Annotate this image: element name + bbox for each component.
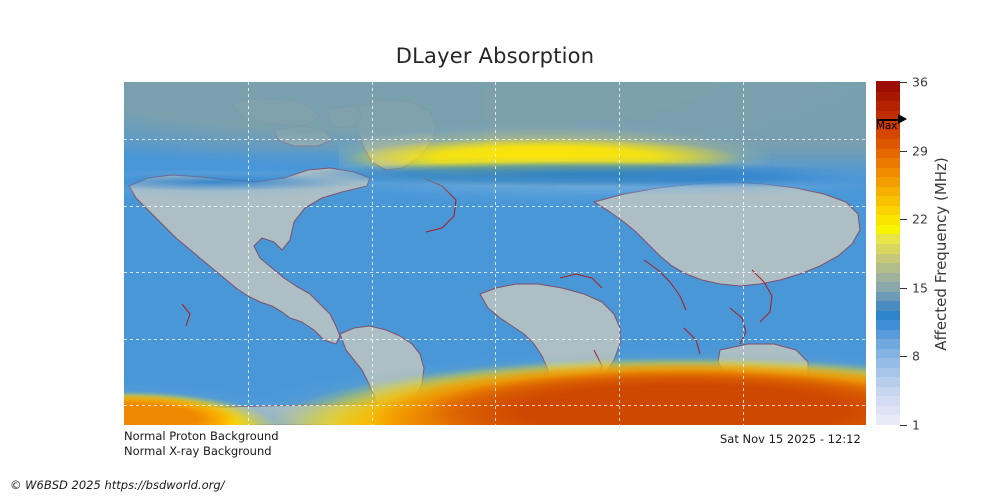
- colorbar-segment: [876, 234, 900, 244]
- credit-line: © W6BSD 2025 https://bsdworld.org/: [10, 478, 225, 492]
- colorbar-segment: [876, 377, 900, 387]
- colorbar-segment: [876, 272, 900, 282]
- max-marker: Max: [876, 112, 910, 130]
- max-arrow-head: [898, 114, 907, 124]
- colorbar-segment: [876, 186, 900, 196]
- colorbar-segment: [876, 358, 900, 368]
- colorbar-tick-label: 8: [912, 349, 920, 364]
- status-notes: Normal Proton Background Normal X-ray Ba…: [124, 429, 279, 459]
- colorbar-tick-mark: [900, 356, 907, 357]
- colorbar-segment: [876, 167, 900, 177]
- colorbar-segment: [876, 177, 900, 187]
- colorbar-segment: [876, 339, 900, 349]
- xray-status: Normal X-ray Background: [124, 444, 279, 459]
- colorbar-segment: [876, 243, 900, 253]
- colorbar-tick-label: 15: [912, 280, 928, 295]
- colorbar-segment: [876, 301, 900, 311]
- max-marker-label: Max: [876, 120, 897, 132]
- colorbar-tick-label: 36: [912, 75, 928, 90]
- colorbar-segment: [876, 205, 900, 215]
- colorbar-segment: [876, 81, 900, 91]
- page-title: DLayer Absorption: [0, 44, 990, 68]
- colorbar-segment: [876, 148, 900, 158]
- colorbar-segment: [876, 282, 900, 292]
- colorbar-tick-label: 29: [912, 143, 928, 158]
- colorbar-segment: [876, 329, 900, 339]
- dlayer-absorption-figure: DLayer Absorption: [0, 0, 1000, 500]
- colorbar-segment: [876, 367, 900, 377]
- colorbar-segment: [876, 415, 900, 425]
- colorbar-segment: [876, 291, 900, 301]
- colorbar-axis-label: Affected Frequency (MHz): [930, 82, 952, 425]
- colorbar-tick-mark: [900, 288, 907, 289]
- colorbar-segment: [876, 196, 900, 206]
- colorbar-segment: [876, 310, 900, 320]
- colorbar-segment: [876, 215, 900, 225]
- colorbar-segment: [876, 100, 900, 110]
- colorbar-tick-mark: [900, 82, 907, 83]
- colorbar-tick-mark: [900, 151, 907, 152]
- colorbar[interactable]: 1815222936: [876, 82, 900, 425]
- graticule: [124, 82, 866, 425]
- colorbar-tick-label: 1: [912, 418, 920, 433]
- colorbar-segment: [876, 396, 900, 406]
- colorbar-tick-mark: [900, 425, 907, 426]
- colorbar-segment: [876, 262, 900, 272]
- colorbar-segment: [876, 253, 900, 263]
- colorbar-segment: [876, 320, 900, 330]
- colorbar-tick-mark: [900, 219, 907, 220]
- colorbar-segment: [876, 91, 900, 101]
- colorbar-tick-label: 22: [912, 212, 928, 227]
- world-absorption-map[interactable]: [124, 82, 866, 425]
- proton-status: Normal Proton Background: [124, 429, 279, 444]
- colorbar-gradient: [876, 82, 900, 425]
- timestamp: Sat Nov 15 2025 - 12:12: [720, 432, 861, 446]
- colorbar-segment: [876, 224, 900, 234]
- colorbar-segment: [876, 348, 900, 358]
- colorbar-segment: [876, 386, 900, 396]
- colorbar-segment: [876, 405, 900, 415]
- colorbar-segment: [876, 158, 900, 168]
- colorbar-axis-label-text: Affected Frequency (MHz): [932, 157, 950, 351]
- colorbar-segment: [876, 139, 900, 149]
